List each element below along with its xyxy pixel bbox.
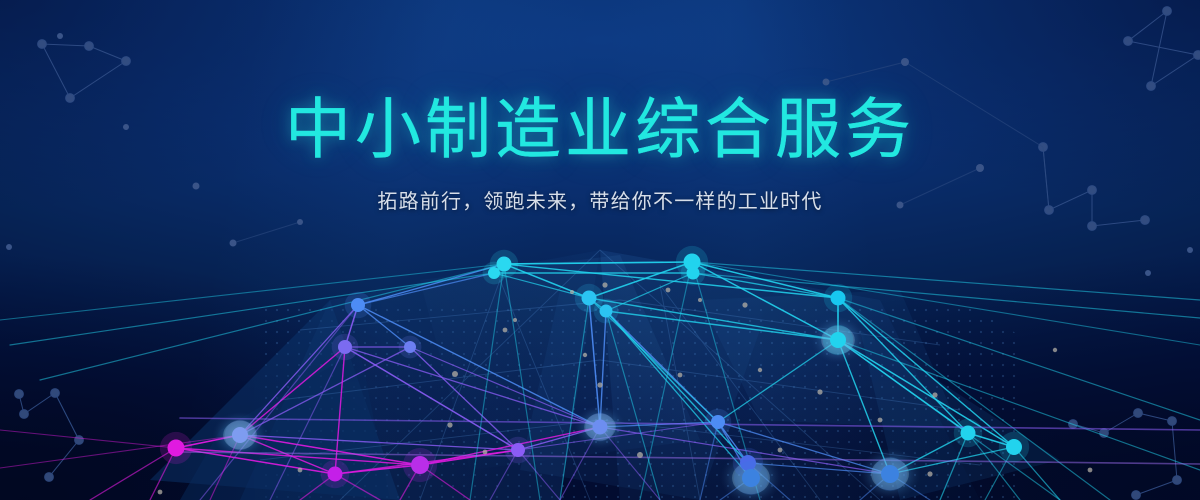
- warm-dust-dots: [158, 282, 1093, 494]
- hero-banner: 中小制造业综合服务 拓路前行，领跑未来，带给你不一样的工业时代: [0, 0, 1200, 500]
- foreground-particles: [0, 0, 1200, 500]
